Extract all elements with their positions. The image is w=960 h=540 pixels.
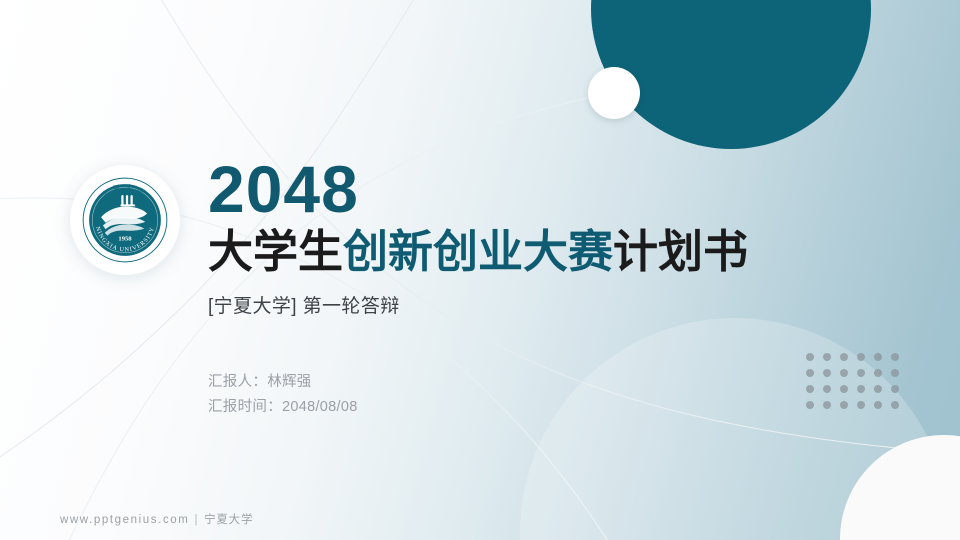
dot-grid-decoration (806, 353, 908, 417)
grid-dot (840, 353, 848, 361)
grid-dot (806, 353, 814, 361)
logo-founded-year: 1958 (118, 236, 132, 243)
ningxia-university-seal-icon: 1958 NINGXIA UNIVERSITY 宁夏大学 (79, 174, 171, 266)
subtitle: [宁夏大学] 第一轮答辩 (208, 291, 748, 318)
grid-dot (874, 401, 882, 409)
grid-dot (806, 385, 814, 393)
footer-separator: | (194, 514, 199, 526)
grid-dot (874, 369, 882, 377)
title-part-2-accent: 创新创业大赛 (343, 226, 613, 277)
grid-dot (823, 353, 831, 361)
grid-dot (891, 369, 899, 377)
title-block: 2048 大学生创新创业大赛计划书 [宁夏大学] 第一轮答辩 (208, 158, 748, 318)
footer-organization: 宁夏大学 (204, 514, 253, 526)
grid-dot (891, 353, 899, 361)
presentation-date: 汇报时间：2048/08/08 (208, 395, 358, 420)
grid-dot (857, 401, 865, 409)
page-title: 大学生创新创业大赛计划书 (208, 228, 748, 277)
white-accent-dot (588, 67, 640, 119)
grid-dot (823, 369, 831, 377)
presentation-title-slide: 1958 NINGXIA UNIVERSITY 宁夏大学 2048 大学生创新创… (0, 0, 960, 540)
grid-dot (806, 401, 814, 409)
title-part-1: 大学生 (208, 226, 343, 277)
grid-dot (840, 401, 848, 409)
grid-dot (823, 385, 831, 393)
grid-dot (857, 385, 865, 393)
grid-dot (806, 369, 814, 377)
grid-dot (891, 401, 899, 409)
grid-dot (857, 369, 865, 377)
year-heading: 2048 (208, 158, 748, 221)
grid-dot (840, 385, 848, 393)
presenter-meta: 汇报人：林辉强 汇报时间：2048/08/08 (208, 370, 358, 420)
grid-dot (840, 369, 848, 377)
grid-dot (823, 401, 831, 409)
footer-website: www.pptgenius.com (60, 514, 189, 526)
grid-dot (874, 353, 882, 361)
presenter-name: 汇报人：林辉强 (208, 370, 358, 395)
title-part-3: 计划书 (613, 226, 748, 277)
grid-dot (857, 353, 865, 361)
grid-dot (891, 385, 899, 393)
university-logo: 1958 NINGXIA UNIVERSITY 宁夏大学 (70, 165, 180, 275)
grid-dot (874, 385, 882, 393)
footer: www.pptgenius.com|宁夏大学 (60, 511, 253, 527)
